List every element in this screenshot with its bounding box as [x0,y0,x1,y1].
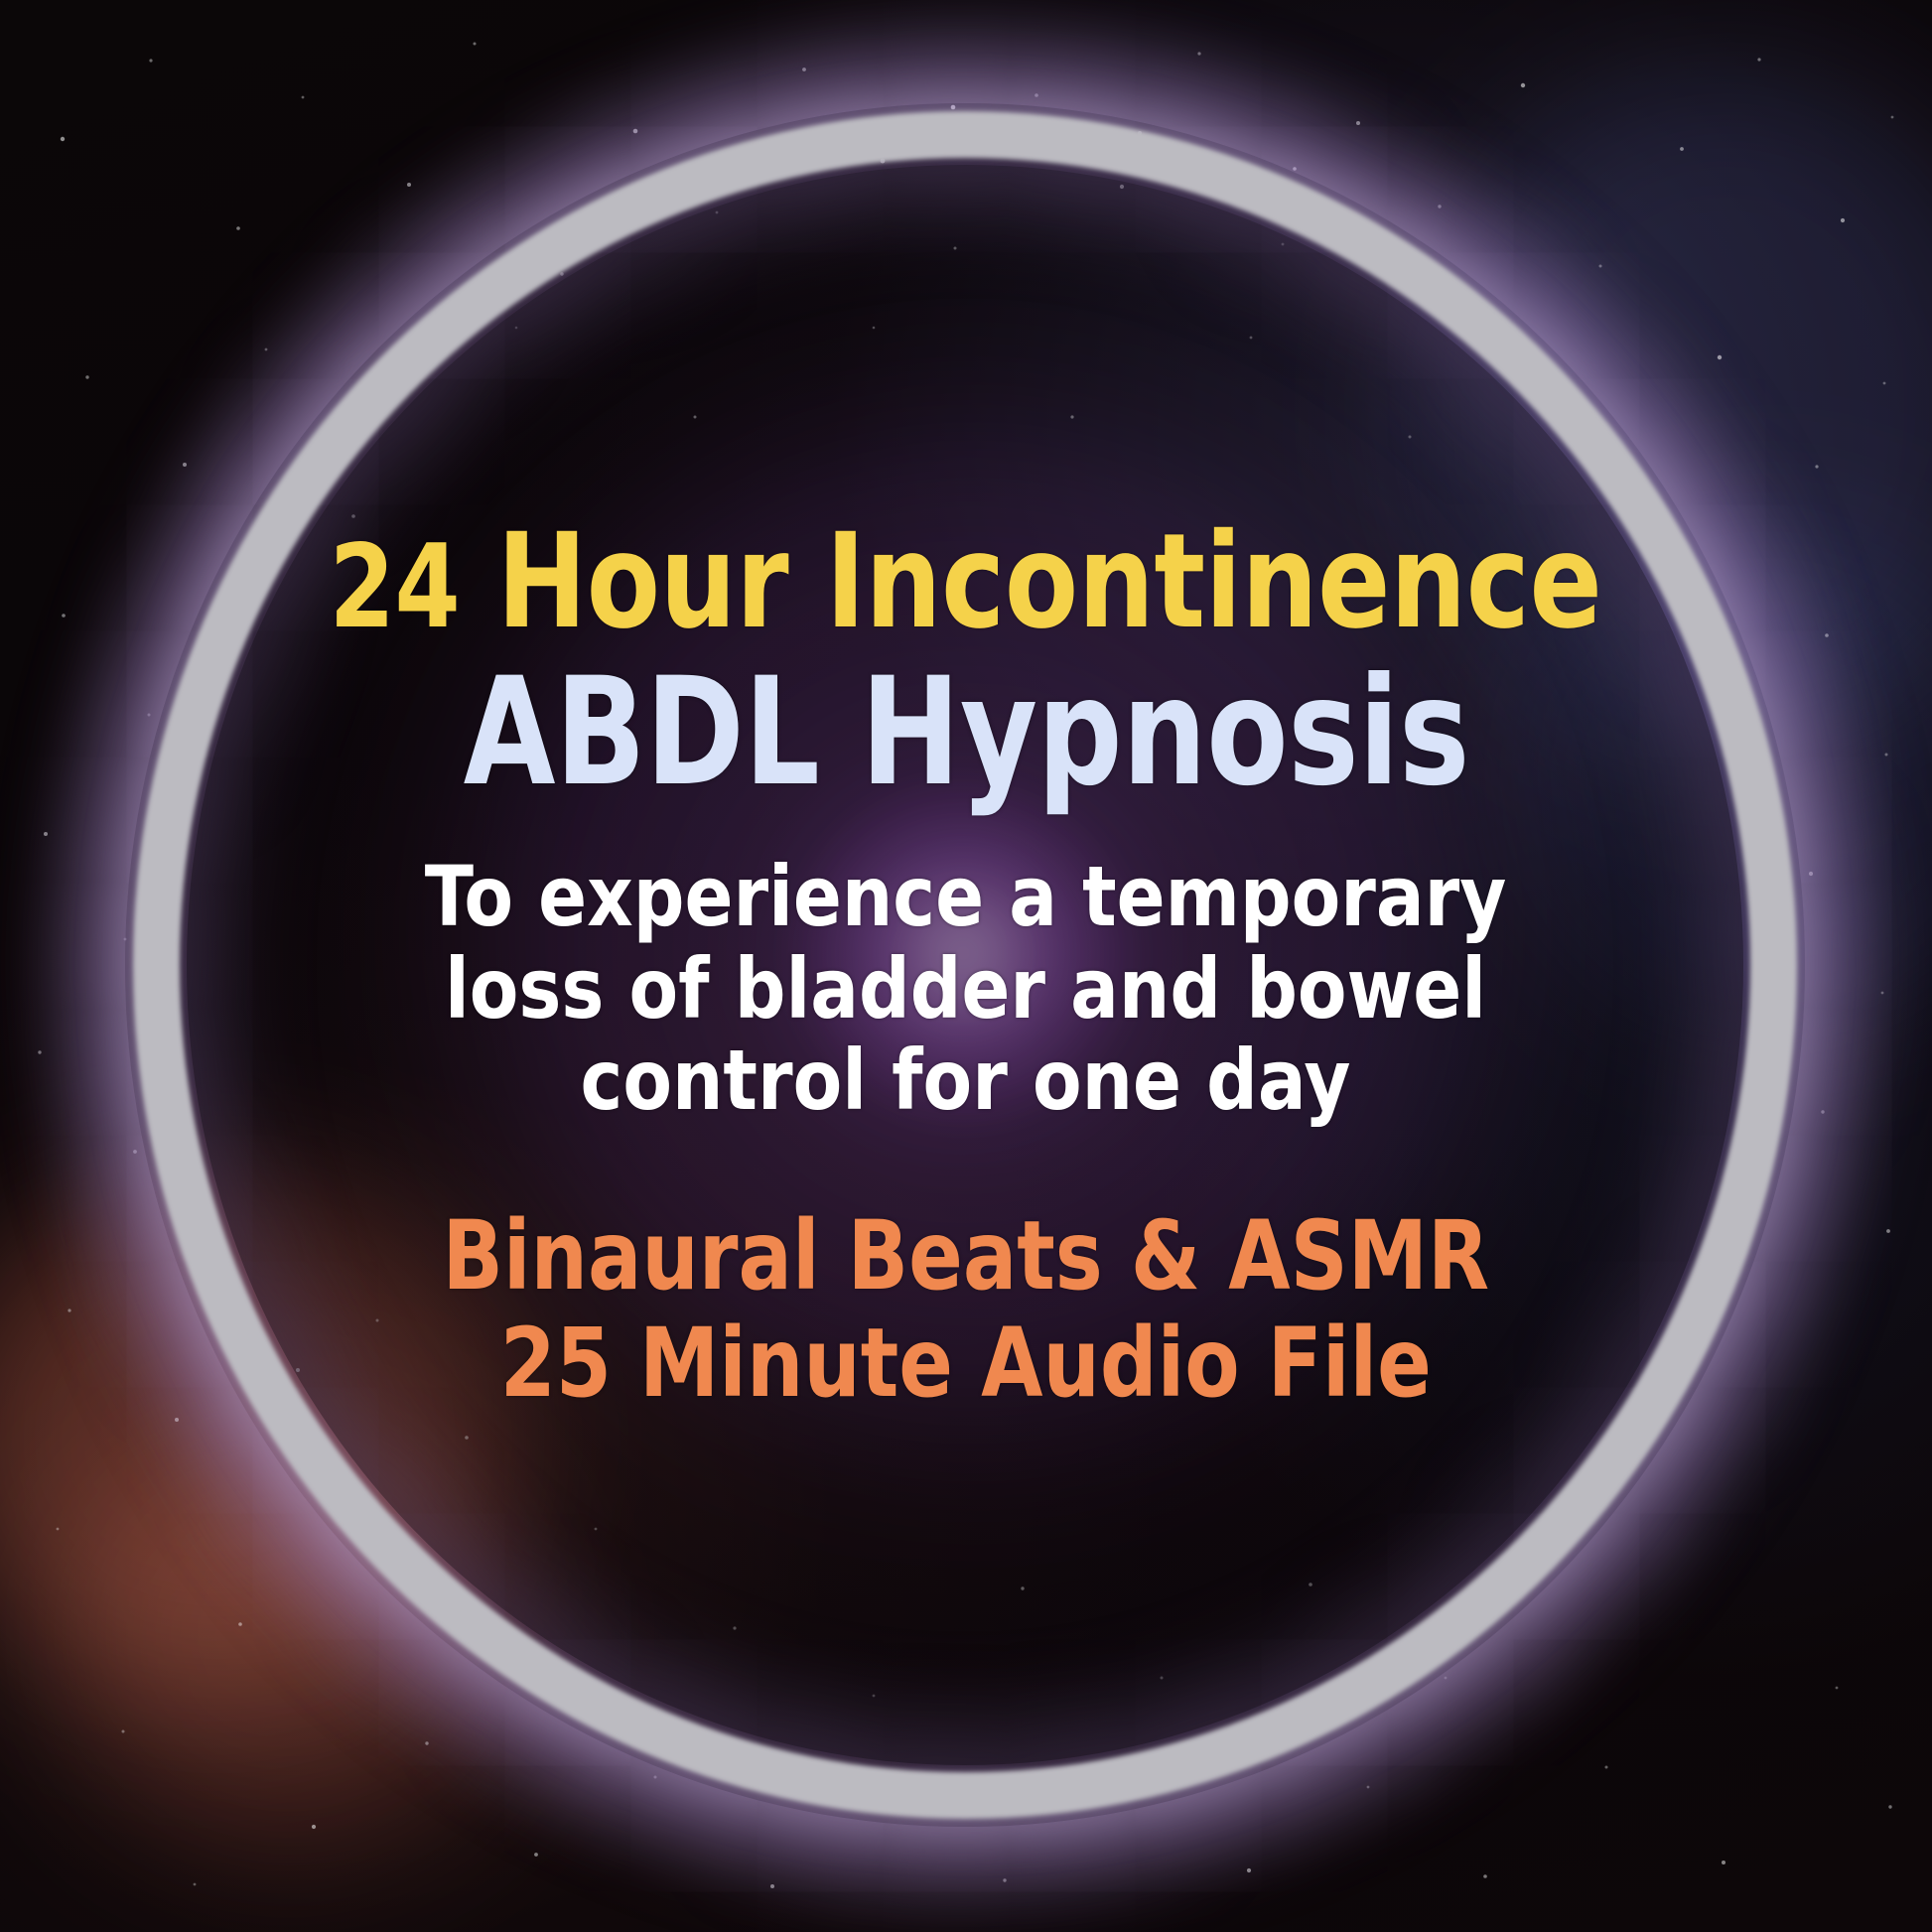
description-line-3: control for one day [425,1035,1507,1126]
title-text: Hour Incontinence [497,505,1602,658]
page-title: 24 Hour Incontinence [330,515,1602,649]
poster-content: 24 Hour Incontinence ABDL Hypnosis To ex… [0,0,1932,1932]
description-block: To experience a temporary loss of bladde… [425,851,1507,1126]
description-line-1: To experience a temporary [425,851,1507,942]
poster-canvas: 24 Hour Incontinence ABDL Hypnosis To ex… [0,0,1932,1932]
audio-info-line-1: Binaural Beats & ASMR [443,1203,1490,1311]
audio-info-line-2: 25 Minute Audio File [443,1311,1490,1418]
audio-info-block: Binaural Beats & ASMR 25 Minute Audio Fi… [443,1203,1490,1417]
description-line-2: loss of bladder and bowel [425,943,1507,1035]
page-subtitle: ABDL Hypnosis [463,658,1468,807]
title-number: 24 [330,520,461,654]
